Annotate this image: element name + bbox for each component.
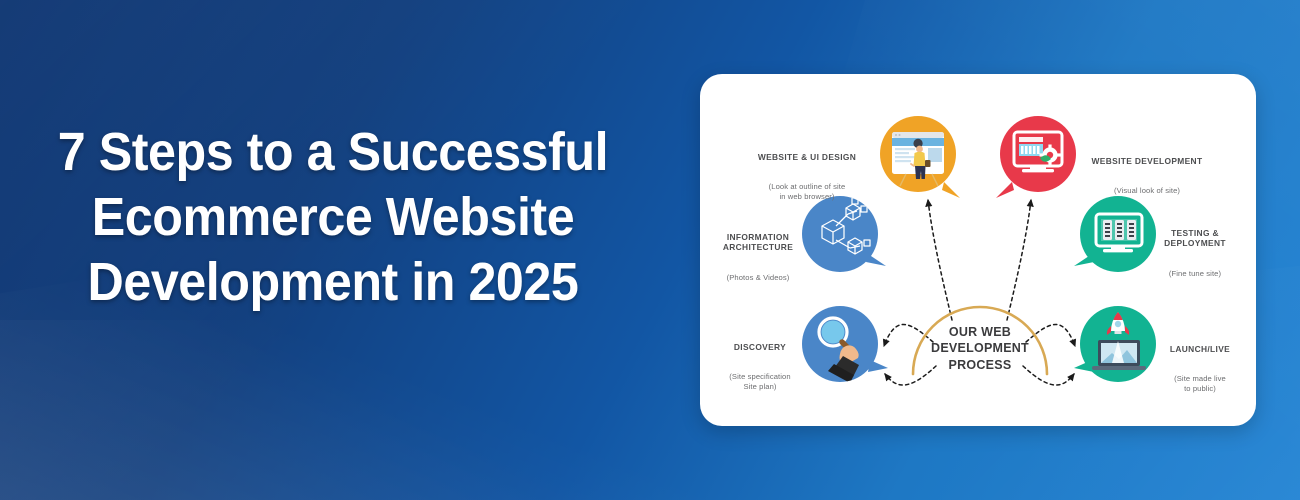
label-testing-deployment: TESTING & DEPLOYMENT (Fine tune site) <box>1140 208 1250 297</box>
label-title: INFORMATION ARCHITECTURE <box>708 232 808 253</box>
label-subtitle: (Look at outline of site in web browser) <box>752 182 862 201</box>
label-subtitle: (Fine tune site) <box>1140 269 1250 278</box>
label-title: LAUNCH/LIVE <box>1150 344 1250 354</box>
label-discovery: DISCOVERY (Site specification Site plan) <box>710 322 810 410</box>
label-subtitle: (Photos & Videos) <box>708 273 808 282</box>
label-title: TESTING & DEPLOYMENT <box>1140 228 1250 249</box>
label-subtitle: (Site specification Site plan) <box>710 372 810 391</box>
banner-background: 7 Steps to a Successful Ecommerce Websit… <box>0 0 1300 500</box>
label-title: DISCOVERY <box>710 342 810 352</box>
label-subtitle: (Site made live to public) <box>1150 374 1250 393</box>
banner-headline: 7 Steps to a Successful Ecommerce Websit… <box>40 120 626 314</box>
label-title: WEBSITE & UI DESIGN <box>752 152 862 162</box>
arrow-to-development <box>1007 200 1031 320</box>
node-website-development[interactable] <box>996 116 1076 198</box>
label-website-development: WEBSITE DEVELOPMENT (Visual look of site… <box>1082 136 1212 215</box>
node-discovery[interactable] <box>802 306 888 383</box>
center-process-title: OUR WEB DEVELOPMENT PROCESS <box>907 324 1053 373</box>
label-website-ui-design: WEBSITE & UI DESIGN (Look at outline of … <box>752 132 862 220</box>
infographic-card: WEBSITE & UI DESIGN (Look at outline of … <box>700 74 1256 426</box>
label-title: WEBSITE DEVELOPMENT <box>1082 156 1212 166</box>
arrow-to-design <box>928 200 952 320</box>
node-launch-live[interactable] <box>1074 306 1156 382</box>
label-information-architecture: INFORMATION ARCHITECTURE (Photos & Video… <box>708 212 808 301</box>
label-launch-live: LAUNCH/LIVE (Site made live to public) <box>1150 324 1250 412</box>
infographic-canvas: WEBSITE & UI DESIGN (Look at outline of … <box>700 74 1256 426</box>
label-subtitle: (Visual look of site) <box>1082 186 1212 195</box>
node-website-ui-design[interactable] <box>880 116 960 198</box>
background-sheen-4 <box>0 320 760 500</box>
